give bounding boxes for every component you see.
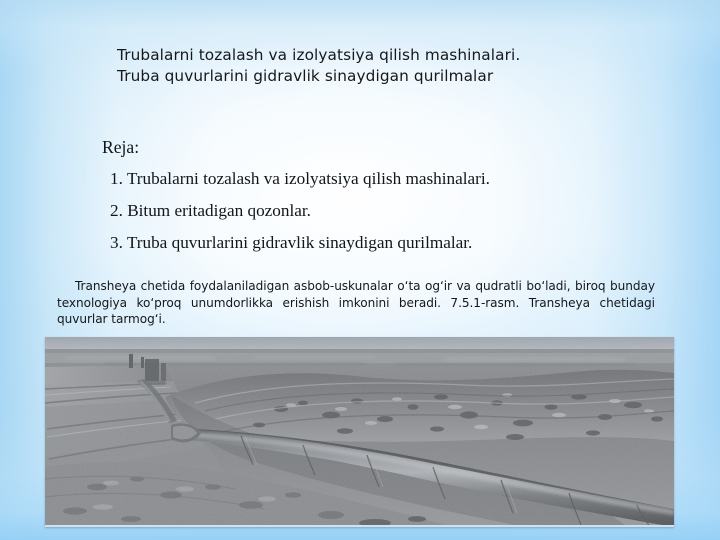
slide-title-line-1: Trubalarni tozalash va izolyatsiya qilis… [117,45,677,66]
figure-photo-pipeline-trench [45,337,674,527]
slide-title: Trubalarni tozalash va izolyatsiya qilis… [117,45,677,87]
plan-item-1: 1. Trubalarni tozalash va izolyatsiya qi… [110,168,622,190]
slide-canvas: Trubalarni tozalash va izolyatsiya qilis… [0,0,720,540]
plan-item-3: 3. Truba quvurlarini gidravlik sinaydiga… [110,232,622,254]
plan-section: Reja: 1. Trubalarni tozalash va izolyats… [102,136,622,254]
body-paragraph: Transheya chetida foydalaniladigan asbob… [57,278,655,328]
pipeline-trench-illustration [45,337,674,525]
plan-item-2: 2. Bitum eritadigan qozonlar. [110,200,622,222]
plan-heading: Reja: [102,136,622,158]
slide-title-line-2: Truba quvurlarini gidravlik sinaydigan q… [117,66,677,87]
